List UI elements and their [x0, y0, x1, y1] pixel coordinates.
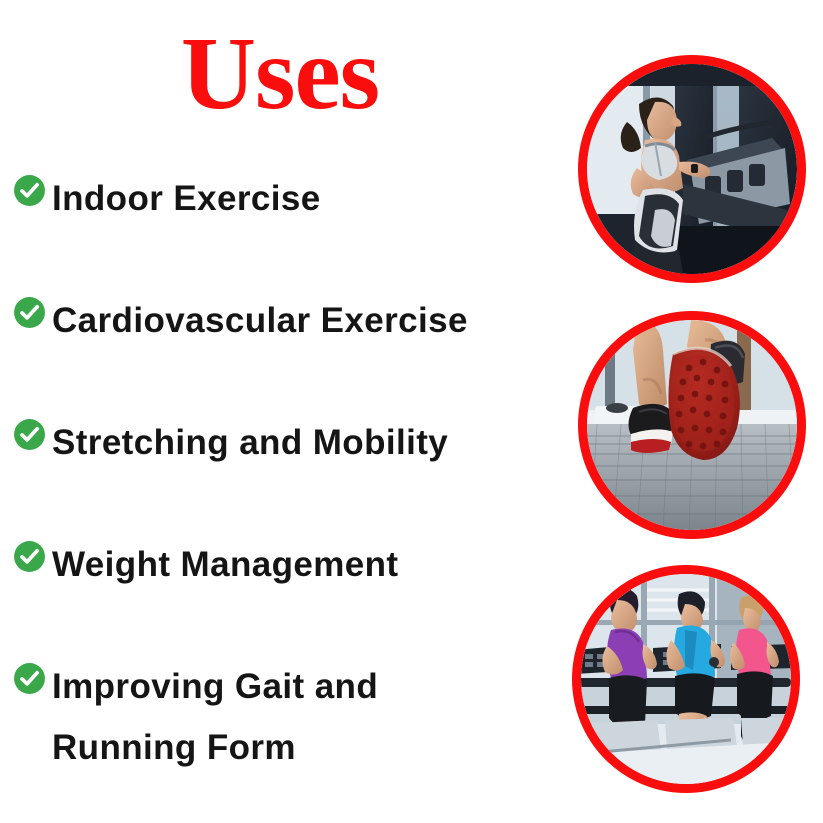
- check-circle-icon: [13, 174, 46, 207]
- list-item-label: Weight Management: [52, 534, 398, 595]
- check-circle-icon: [13, 296, 46, 329]
- list-item: Indoor Exercise: [13, 168, 558, 229]
- woman-running-on-treadmill-photo: [578, 55, 806, 283]
- list-item-label: Cardiovascular Exercise: [52, 290, 468, 351]
- check-circle-icon: [13, 662, 46, 695]
- list-item-label: Indoor Exercise: [52, 168, 321, 229]
- three-people-on-treadmills-photo: [572, 565, 800, 793]
- list-item: Weight Management: [13, 534, 558, 595]
- photo-image: [581, 574, 791, 784]
- list-item: Stretching and Mobility: [13, 412, 558, 473]
- list-item: Improving Gait and Running Form: [13, 656, 558, 778]
- running-shoes-closeup-photo: [578, 311, 806, 539]
- page-title: Uses: [0, 22, 560, 126]
- uses-infographic: Uses Indoor Exercise Cardiovascular Exer…: [0, 0, 823, 823]
- check-circle-icon: [13, 418, 46, 451]
- photo-image: [587, 64, 797, 274]
- photo-image: [587, 320, 797, 530]
- check-circle-icon: [13, 540, 46, 573]
- list-item-label: Stretching and Mobility: [52, 412, 448, 473]
- list-item: Cardiovascular Exercise: [13, 290, 558, 351]
- uses-list: Indoor Exercise Cardiovascular Exercise …: [13, 168, 558, 778]
- list-item-label: Improving Gait and Running Form: [52, 656, 378, 778]
